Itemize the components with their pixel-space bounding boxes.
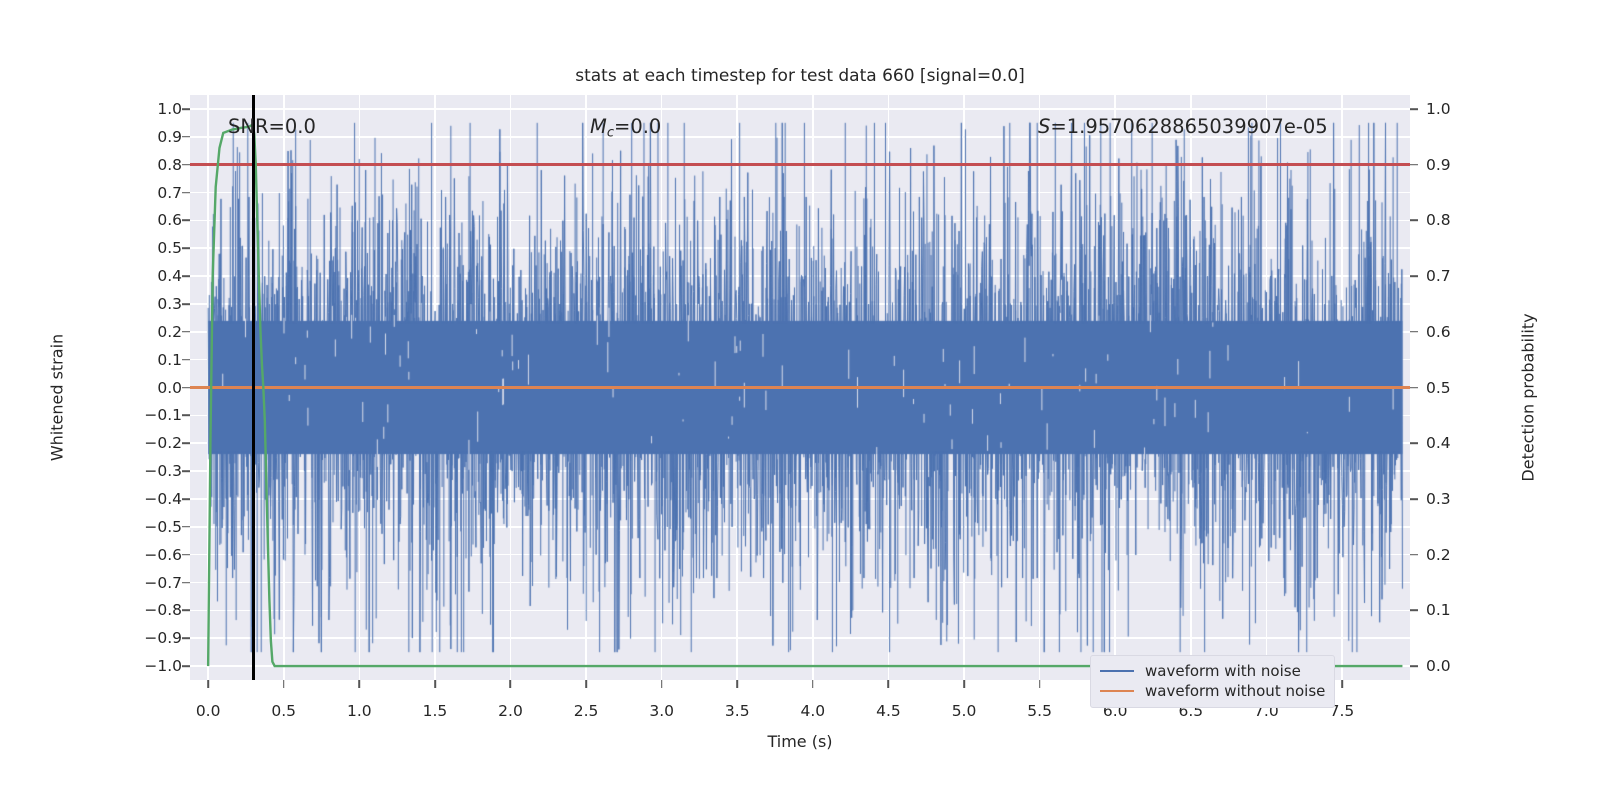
- y-tick-label-right: 0.0: [1426, 657, 1451, 675]
- x-tick-mark: [812, 680, 814, 688]
- y-tick-mark-left: [182, 526, 190, 528]
- y-tick-label-left: 0.7: [157, 184, 182, 202]
- x-tick-label: 4.0: [801, 702, 826, 720]
- y-tick-mark-right: [1410, 442, 1418, 444]
- legend-color-swatch: [1100, 670, 1134, 673]
- x-tick-mark: [736, 680, 738, 688]
- x-tick-label: 3.0: [649, 702, 674, 720]
- y-tick-label-left: −0.6: [144, 546, 182, 564]
- y-tick-label-right: 0.8: [1426, 211, 1451, 229]
- x-tick-label: 0.0: [196, 702, 221, 720]
- y-tick-label-left: −0.8: [144, 601, 182, 619]
- x-tick-label: 5.5: [1027, 702, 1052, 720]
- y-tick-label-left: 0.6: [157, 211, 182, 229]
- y-tick-label-left: 1.0: [157, 100, 182, 118]
- y-tick-mark-left: [182, 136, 190, 138]
- y-tick-mark-right: [1410, 554, 1418, 556]
- y-tick-mark-left: [182, 415, 190, 417]
- y-tick-mark-left: [182, 442, 190, 444]
- y-tick-mark-left: [182, 331, 190, 333]
- y-tick-label-left: 0.0: [157, 379, 182, 397]
- x-tick-mark: [661, 680, 663, 688]
- x-tick-mark: [1039, 680, 1041, 688]
- x-tick-mark: [1341, 680, 1343, 688]
- y-tick-mark-right: [1410, 665, 1418, 667]
- y-tick-mark-right: [1410, 275, 1418, 277]
- y-tick-mark-left: [182, 637, 190, 639]
- legend-label: waveform with noise: [1145, 662, 1301, 680]
- y-tick-mark-left: [182, 275, 190, 277]
- y-tick-mark-right: [1410, 498, 1418, 500]
- x-tick-label: 0.5: [271, 702, 296, 720]
- y-axis-label-right: Detection probability: [1519, 273, 1538, 523]
- merger-time-marker: [252, 95, 254, 680]
- x-tick-mark: [434, 680, 436, 688]
- y-tick-label-left: −0.9: [144, 629, 182, 647]
- y-tick-mark-left: [182, 220, 190, 222]
- x-tick-label: 3.5: [725, 702, 750, 720]
- x-tick-mark: [963, 680, 965, 688]
- y-tick-mark-right: [1410, 387, 1418, 389]
- y-tick-mark-left: [182, 359, 190, 361]
- y-tick-mark-left: [182, 610, 190, 612]
- legend-item-0[interactable]: waveform with noise: [1100, 661, 1325, 681]
- y-tick-label-right: 0.6: [1426, 323, 1451, 341]
- x-tick-label: 2.5: [574, 702, 599, 720]
- legend-color-swatch: [1100, 690, 1134, 693]
- y-tick-mark-left: [182, 498, 190, 500]
- y-tick-label-left: −1.0: [144, 657, 182, 675]
- y-tick-mark-right: [1410, 108, 1418, 110]
- y-tick-mark-left: [182, 108, 190, 110]
- y-tick-label-right: 0.5: [1426, 379, 1451, 397]
- x-tick-mark: [888, 680, 890, 688]
- y-tick-label-left: 0.5: [157, 239, 182, 257]
- y-tick-label-right: 1.0: [1426, 100, 1451, 118]
- y-tick-mark-left: [182, 247, 190, 249]
- y-tick-mark-left: [182, 303, 190, 305]
- y-tick-mark-right: [1410, 331, 1418, 333]
- y-tick-label-right: 0.1: [1426, 601, 1451, 619]
- y-tick-label-right: 0.3: [1426, 490, 1451, 508]
- legend-box[interactable]: waveform with noisewaveform without nois…: [1090, 655, 1335, 708]
- x-tick-mark: [510, 680, 512, 688]
- y-axis-label-left: Whitened strain: [48, 293, 67, 503]
- x-axis-label: Time (s): [190, 732, 1410, 751]
- y-tick-label-left: 0.1: [157, 351, 182, 369]
- annotation-snr: SNR=0.0: [228, 115, 316, 138]
- y-tick-mark-right: [1410, 610, 1418, 612]
- y-tick-label-left: 0.8: [157, 156, 182, 174]
- x-tick-label: 2.0: [498, 702, 523, 720]
- x-tick-mark: [585, 680, 587, 688]
- y-tick-label-right: 0.2: [1426, 546, 1451, 564]
- y-tick-mark-right: [1410, 220, 1418, 222]
- y-tick-mark-left: [182, 470, 190, 472]
- x-tick-mark: [359, 680, 361, 688]
- x-tick-label: 5.0: [952, 702, 977, 720]
- detection-probability-path: [208, 125, 1402, 667]
- x-tick-label: 4.5: [876, 702, 901, 720]
- legend-item-1[interactable]: waveform without noise: [1100, 681, 1325, 701]
- y-tick-label-right: 0.9: [1426, 156, 1451, 174]
- chart-title: stats at each timestep for test data 660…: [190, 66, 1410, 86]
- y-tick-label-right: 0.4: [1426, 434, 1451, 452]
- y-tick-label-left: −0.7: [144, 574, 182, 592]
- y-tick-mark-left: [182, 387, 190, 389]
- y-tick-label-left: −0.3: [144, 462, 182, 480]
- y-tick-label-left: 0.4: [157, 267, 182, 285]
- detection-probability-series: [190, 95, 1410, 680]
- y-tick-mark-right: [1410, 164, 1418, 166]
- y-tick-label-left: −0.2: [144, 434, 182, 452]
- x-tick-label: 1.0: [347, 702, 372, 720]
- plot-area: SNR=0.0 Mc=0.0 S=1.9570628865039907e-05: [190, 95, 1410, 680]
- x-tick-label: 1.5: [423, 702, 448, 720]
- y-tick-label-left: −0.5: [144, 518, 182, 536]
- figure-canvas: stats at each timestep for test data 660…: [0, 0, 1600, 800]
- y-tick-label-right: 0.7: [1426, 267, 1451, 285]
- x-tick-mark: [207, 680, 209, 688]
- legend-label: waveform without noise: [1145, 682, 1325, 700]
- annotation-significance: S=1.9570628865039907e-05: [1038, 115, 1328, 138]
- y-tick-label-left: 0.3: [157, 295, 182, 313]
- annotation-chirp-mass: Mc=0.0: [590, 115, 661, 141]
- y-tick-mark-left: [182, 554, 190, 556]
- y-tick-mark-left: [182, 582, 190, 584]
- y-tick-mark-left: [182, 164, 190, 166]
- y-tick-mark-left: [182, 192, 190, 194]
- y-tick-label-left: 0.9: [157, 128, 182, 146]
- y-tick-label-left: −0.4: [144, 490, 182, 508]
- y-tick-label-left: −0.1: [144, 406, 182, 424]
- y-tick-mark-left: [182, 665, 190, 667]
- y-tick-label-left: 0.2: [157, 323, 182, 341]
- x-tick-mark: [283, 680, 285, 688]
